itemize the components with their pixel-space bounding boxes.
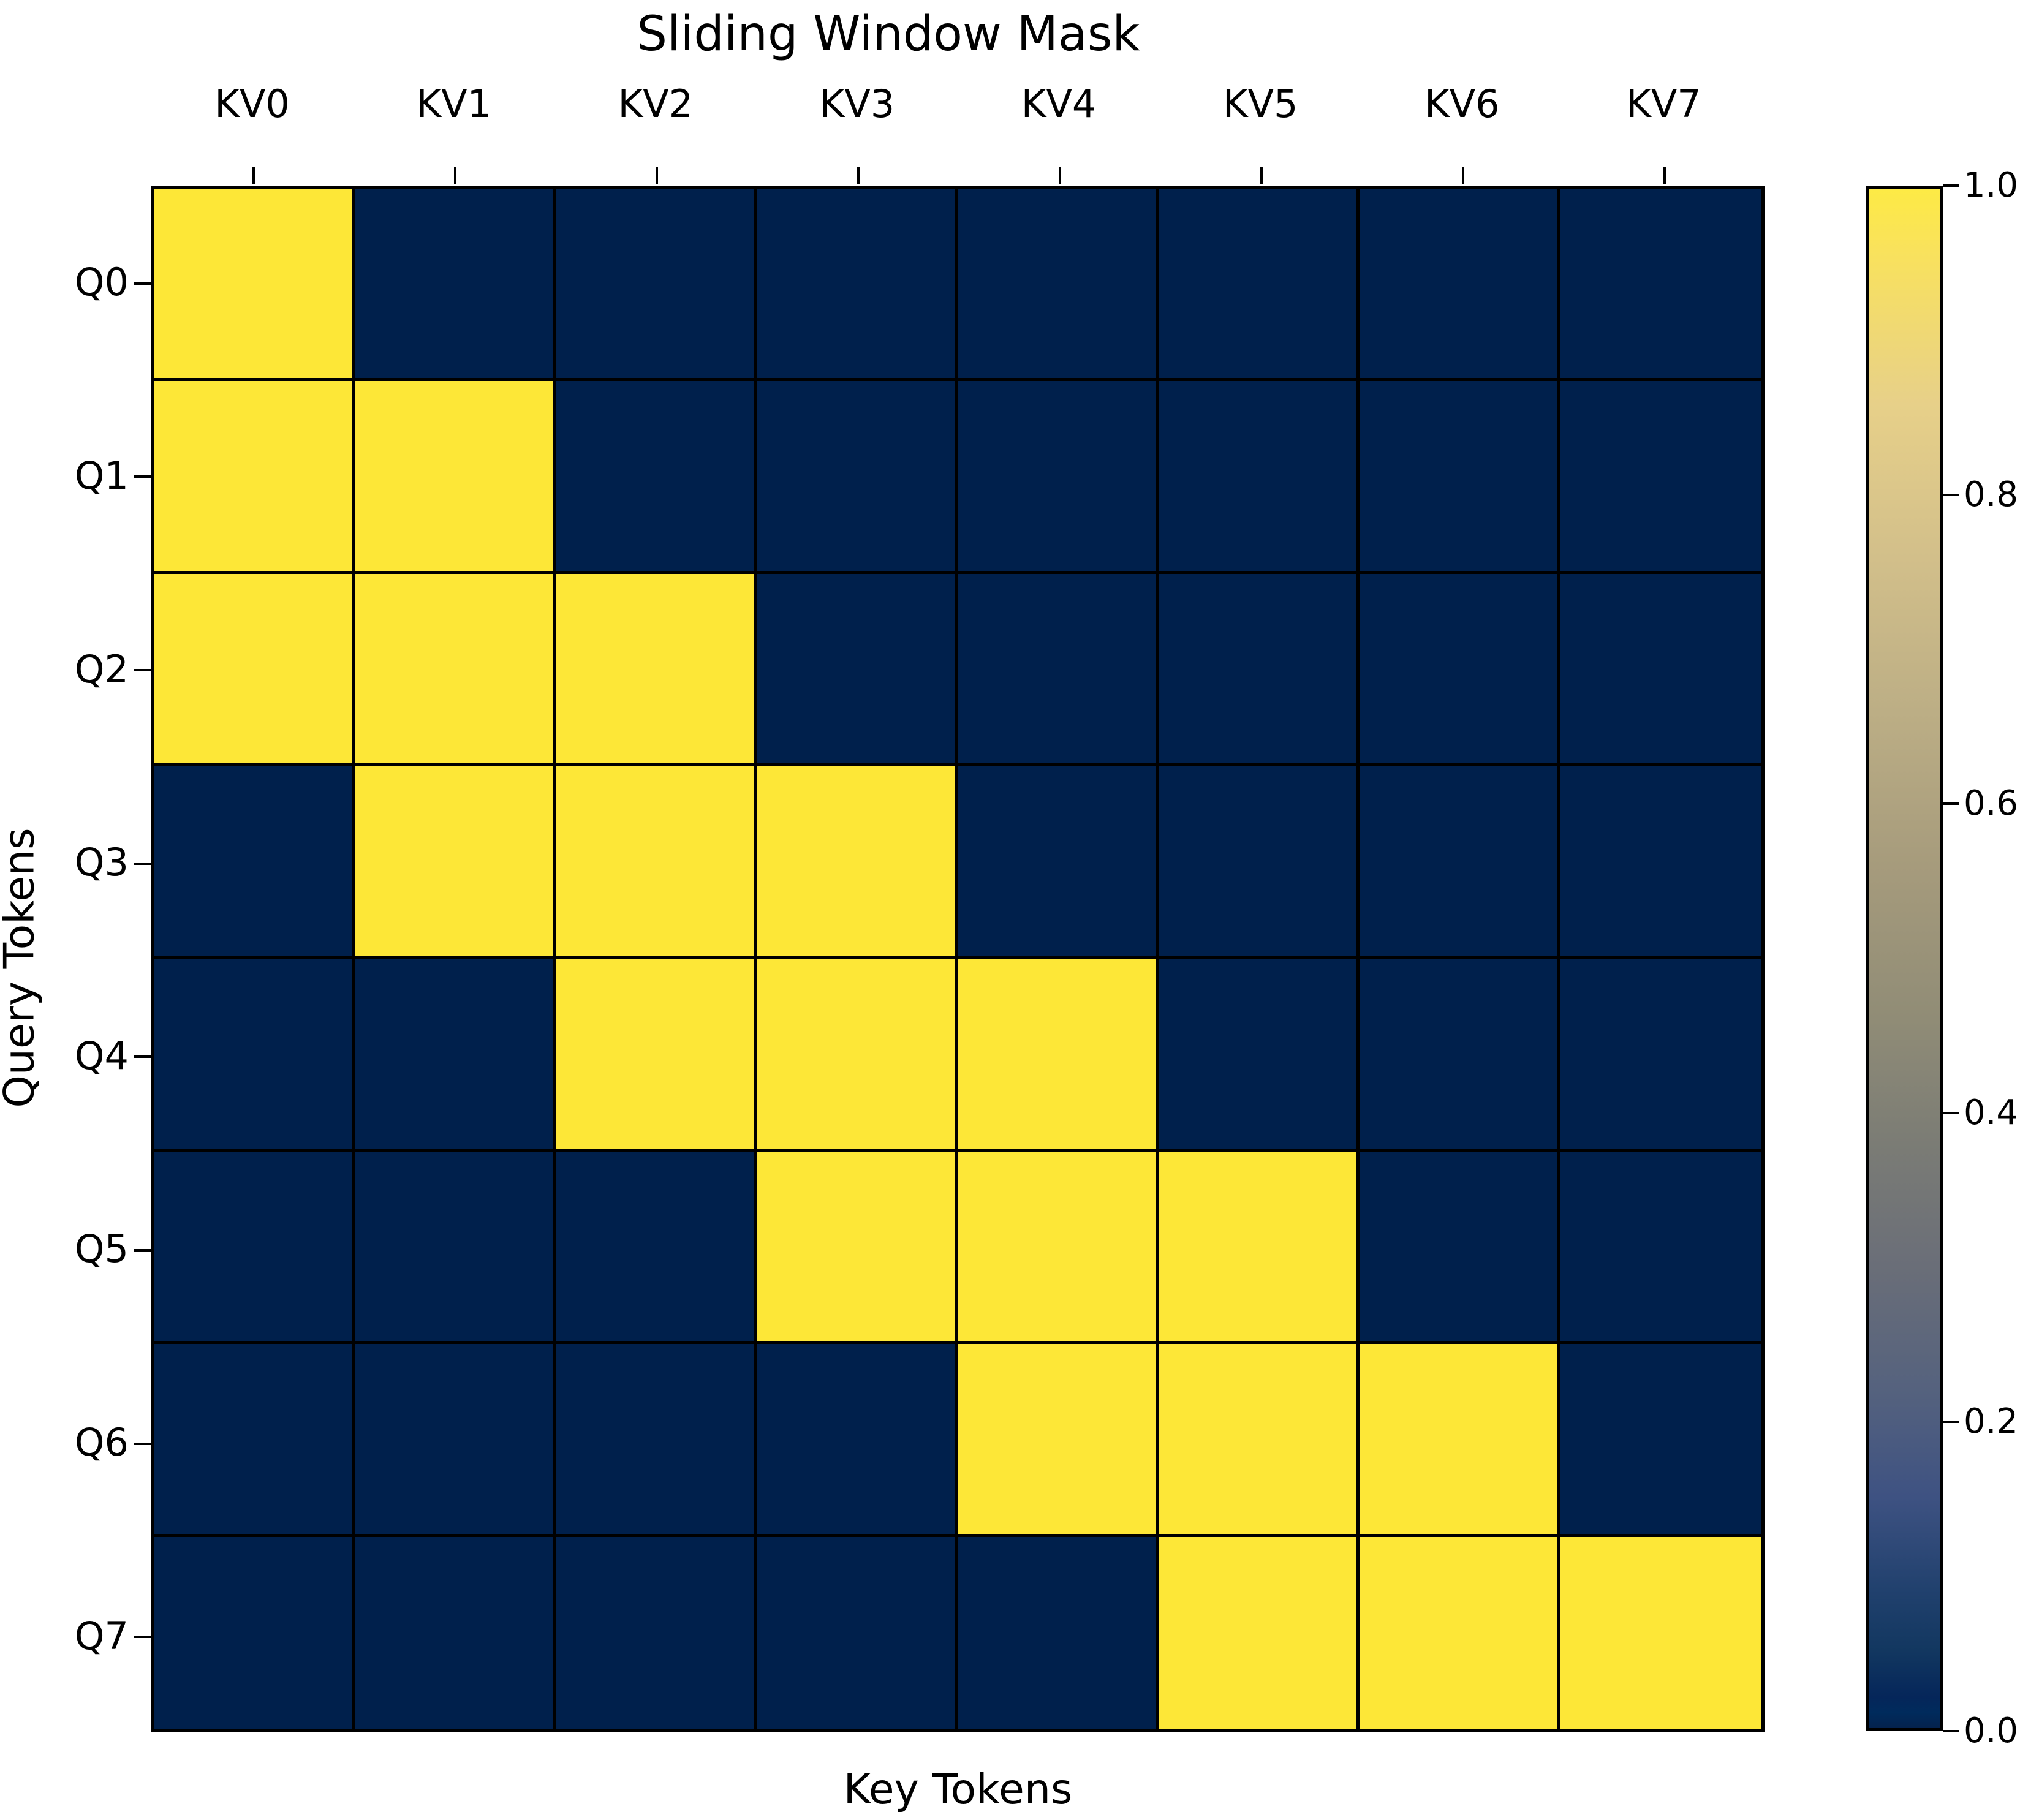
y-tick-mark-7: [134, 1539, 151, 1732]
heatmap-cell: [556, 574, 757, 766]
heatmap-cell: [556, 381, 757, 573]
x-tick-mark-7: [1563, 167, 1765, 184]
heatmap-cell: [1159, 959, 1360, 1152]
heatmap-cell: [1560, 381, 1761, 573]
y-tick-label-column: Q0Q1Q2Q3Q4Q5Q6Q7: [37, 186, 129, 1732]
heatmap-cell: [1360, 959, 1560, 1152]
heatmap-cell: [958, 1152, 1159, 1344]
heatmap-cell: [1159, 1537, 1360, 1729]
heatmap-cell: [1360, 189, 1560, 381]
y-tick-marks: [134, 186, 151, 1732]
colorbar-tick-label-5: 0.0: [1964, 1714, 2018, 1748]
colorbar-tick-label-0: 1.0: [1964, 168, 2018, 203]
y-tick-label-6: Q6: [37, 1346, 129, 1539]
colorbar-tick-mark-2: [1943, 802, 1959, 805]
heatmap-cell: [958, 1344, 1159, 1536]
heatmap-cell: [355, 766, 556, 959]
x-tick-mark-3: [756, 167, 958, 184]
heatmap-cell: [1159, 1152, 1360, 1344]
x-tick-label-5: KV5: [1160, 74, 1361, 135]
heatmap-cell: [958, 1537, 1159, 1729]
heatmap-cell: [1560, 959, 1761, 1152]
heatmap-cell: [355, 381, 556, 573]
heatmap-grid: [154, 189, 1761, 1729]
heatmap-cell: [757, 766, 958, 959]
colorbar-tick-label-2: 0.6: [1964, 787, 2018, 821]
x-tick-label-1: KV1: [353, 74, 554, 135]
x-tick-mark-1: [353, 167, 554, 184]
heatmap-cell: [1159, 766, 1360, 959]
figure-canvas: Sliding Window Mask KV0KV1KV2KV3KV4KV5KV…: [0, 0, 2020, 1820]
y-axis-label-wrapper: Query Tokens: [0, 195, 46, 1742]
y-tick-mark-5: [134, 1152, 151, 1346]
colorbar-tick-label-3: 0.4: [1964, 1096, 2018, 1130]
heatmap-cell: [154, 1537, 355, 1729]
x-tick-mark-2: [554, 167, 756, 184]
y-tick-mark-1: [134, 379, 151, 573]
colorbar-tick-labels: 1.00.80.60.40.20.0: [1964, 186, 2020, 1731]
heatmap-cell: [1560, 1537, 1761, 1729]
heatmap-cell: [355, 1344, 556, 1536]
colorbar-tick-mark-5: [1943, 1730, 1959, 1732]
colorbar-gradient: [1866, 186, 1943, 1731]
heatmap-cell: [556, 1537, 757, 1729]
heatmap-cell: [1560, 1344, 1761, 1536]
y-tick-label-0: Q0: [37, 186, 129, 379]
heatmap-cell: [154, 189, 355, 381]
x-tick-mark-0: [151, 167, 353, 184]
x-tick-label-row: KV0KV1KV2KV3KV4KV5KV6KV7: [151, 74, 1765, 135]
heatmap-cell: [1159, 1344, 1360, 1536]
x-tick-label-3: KV3: [756, 74, 958, 135]
y-tick-label-4: Q4: [37, 959, 129, 1153]
heatmap-cell: [958, 766, 1159, 959]
y-tick-mark-4: [134, 959, 151, 1153]
heatmap-cell: [556, 766, 757, 959]
x-tick-label-2: KV2: [554, 74, 756, 135]
heatmap-cell: [1360, 1344, 1560, 1536]
heatmap-cell: [355, 189, 556, 381]
heatmap-cell: [556, 189, 757, 381]
colorbar-tick-marks: [1943, 186, 1959, 1731]
x-tick-mark-5: [1160, 167, 1361, 184]
heatmap-cell: [1360, 766, 1560, 959]
heatmap-cell: [757, 574, 958, 766]
heatmap-cell: [1360, 1152, 1560, 1344]
heatmap-cell: [556, 1152, 757, 1344]
colorbar-tick-mark-0: [1943, 184, 1959, 187]
heatmap-cell: [154, 959, 355, 1152]
y-tick-label-2: Q2: [37, 572, 129, 766]
heatmap-cell: [958, 189, 1159, 381]
colorbar-tick-mark-3: [1943, 1112, 1959, 1114]
heatmap-cell: [1560, 189, 1761, 381]
heatmap-cell: [154, 574, 355, 766]
heatmap-cell: [757, 381, 958, 573]
heatmap-cell: [556, 959, 757, 1152]
y-axis-label: Query Tokens: [0, 195, 46, 1742]
heatmap-cell: [355, 1537, 556, 1729]
heatmap-cell: [1360, 574, 1560, 766]
heatmap-cell: [154, 381, 355, 573]
heatmap-cell: [1560, 766, 1761, 959]
y-tick-label-3: Q3: [37, 766, 129, 959]
x-tick-label-4: KV4: [958, 74, 1160, 135]
x-tick-marks: [151, 167, 1765, 184]
y-tick-label-1: Q1: [37, 379, 129, 573]
colorbar-tick-mark-4: [1943, 1421, 1959, 1423]
y-tick-mark-0: [134, 186, 151, 379]
heatmap-cell: [958, 574, 1159, 766]
y-tick-mark-2: [134, 572, 151, 766]
heatmap-cell: [1159, 574, 1360, 766]
y-tick-mark-6: [134, 1346, 151, 1539]
heatmap-cell: [1159, 381, 1360, 573]
heatmap-cell: [154, 766, 355, 959]
heatmap-cell: [154, 1344, 355, 1536]
heatmap-cell: [1360, 381, 1560, 573]
heatmap-cell: [355, 574, 556, 766]
heatmap-cell: [556, 1344, 757, 1536]
heatmap-cell: [355, 1152, 556, 1344]
heatmap-axes: [151, 186, 1765, 1732]
heatmap-cell: [1560, 574, 1761, 766]
x-tick-mark-4: [958, 167, 1160, 184]
colorbar-tick-label-4: 0.2: [1964, 1405, 2018, 1439]
y-tick-label-5: Q5: [37, 1152, 129, 1346]
x-tick-mark-6: [1361, 167, 1563, 184]
chart-title: Sliding Window Mask: [0, 5, 1777, 64]
heatmap-cell: [355, 959, 556, 1152]
heatmap-cell: [757, 1344, 958, 1536]
x-tick-label-0: KV0: [151, 74, 353, 135]
x-axis-label: Key Tokens: [151, 1764, 1765, 1816]
heatmap-cell: [757, 959, 958, 1152]
colorbar-tick-mark-1: [1943, 494, 1959, 496]
heatmap-cell: [958, 381, 1159, 573]
colorbar-tick-label-1: 0.8: [1964, 478, 2018, 512]
x-tick-label-6: KV6: [1361, 74, 1563, 135]
heatmap-cell: [1360, 1537, 1560, 1729]
heatmap-cell: [757, 1152, 958, 1344]
heatmap-cell: [154, 1152, 355, 1344]
heatmap-cell: [757, 189, 958, 381]
x-tick-label-7: KV7: [1563, 74, 1765, 135]
heatmap-cell: [757, 1537, 958, 1729]
y-tick-mark-3: [134, 766, 151, 959]
heatmap-cell: [958, 959, 1159, 1152]
heatmap-cell: [1159, 189, 1360, 381]
y-tick-label-7: Q7: [37, 1539, 129, 1732]
heatmap-cell: [1560, 1152, 1761, 1344]
